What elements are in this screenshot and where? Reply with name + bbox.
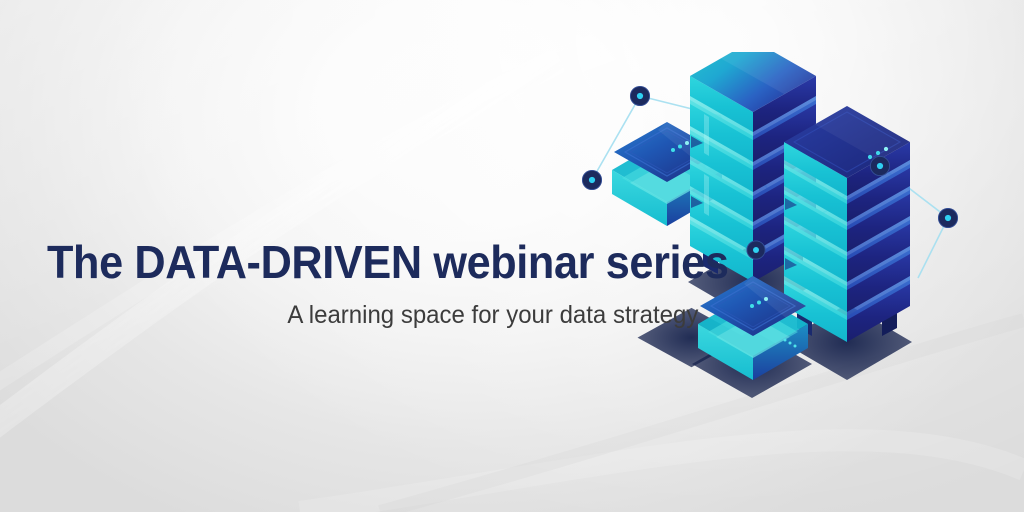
network-node-2: [630, 86, 650, 106]
network-node-4: [870, 156, 890, 176]
text-block: The DATA-DRIVEN webinar series A learnin…: [0, 236, 706, 330]
network-node-3: [747, 241, 766, 260]
page-title: The DATA-DRIVEN webinar series: [0, 236, 664, 288]
illustration-svg: [570, 52, 1010, 402]
banner-root: The DATA-DRIVEN webinar series A learnin…: [0, 0, 1024, 512]
page-subtitle: A learning space for your data strategy: [28, 300, 706, 330]
network-node-5: [938, 208, 958, 228]
network-node-1: [582, 170, 602, 190]
data-center-illustration: [570, 52, 1010, 402]
